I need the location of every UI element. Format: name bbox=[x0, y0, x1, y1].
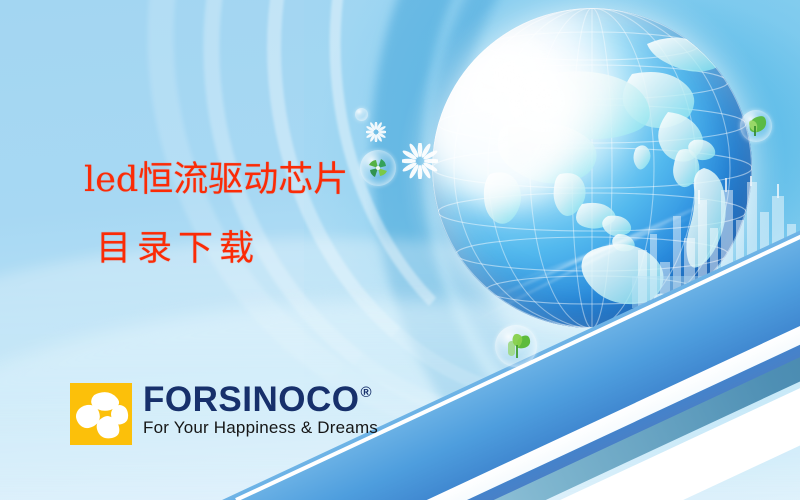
pinwheel-icon bbox=[360, 150, 396, 186]
leaf-icon bbox=[740, 110, 772, 142]
company-logo: FORSINOCO ® For Your Happiness & Dreams bbox=[70, 383, 378, 445]
sprout-icon bbox=[495, 325, 537, 367]
logo-tagline: For Your Happiness & Dreams bbox=[143, 418, 378, 437]
asterisk-ornament-large-icon bbox=[402, 143, 438, 179]
logo-wordmark-text: FORSINOCO bbox=[143, 383, 359, 417]
bubble-with-sprout bbox=[495, 325, 537, 367]
registered-trademark-symbol: ® bbox=[360, 385, 372, 400]
headline-line-2: 目录下载 bbox=[96, 232, 260, 267]
city-skyline-silhouette bbox=[632, 176, 800, 308]
forsinoco-flower-mark-icon bbox=[70, 383, 132, 445]
bubble-small-plain bbox=[355, 108, 368, 121]
promotional-banner: led恒流驱动芯片 目录下载 FORSINOCO ® For Your Happ… bbox=[0, 0, 800, 500]
logo-text-block: FORSINOCO ® For Your Happiness & Dreams bbox=[143, 383, 378, 437]
headline-line-1: led恒流驱动芯片 bbox=[84, 163, 348, 198]
asterisk-ornament-small-icon bbox=[366, 122, 386, 142]
bubble-with-pinwheel bbox=[360, 150, 396, 186]
four-petal-flower-icon bbox=[70, 383, 132, 445]
bubble-with-leaf bbox=[740, 110, 772, 142]
logo-wordmark-row: FORSINOCO ® bbox=[143, 383, 378, 417]
